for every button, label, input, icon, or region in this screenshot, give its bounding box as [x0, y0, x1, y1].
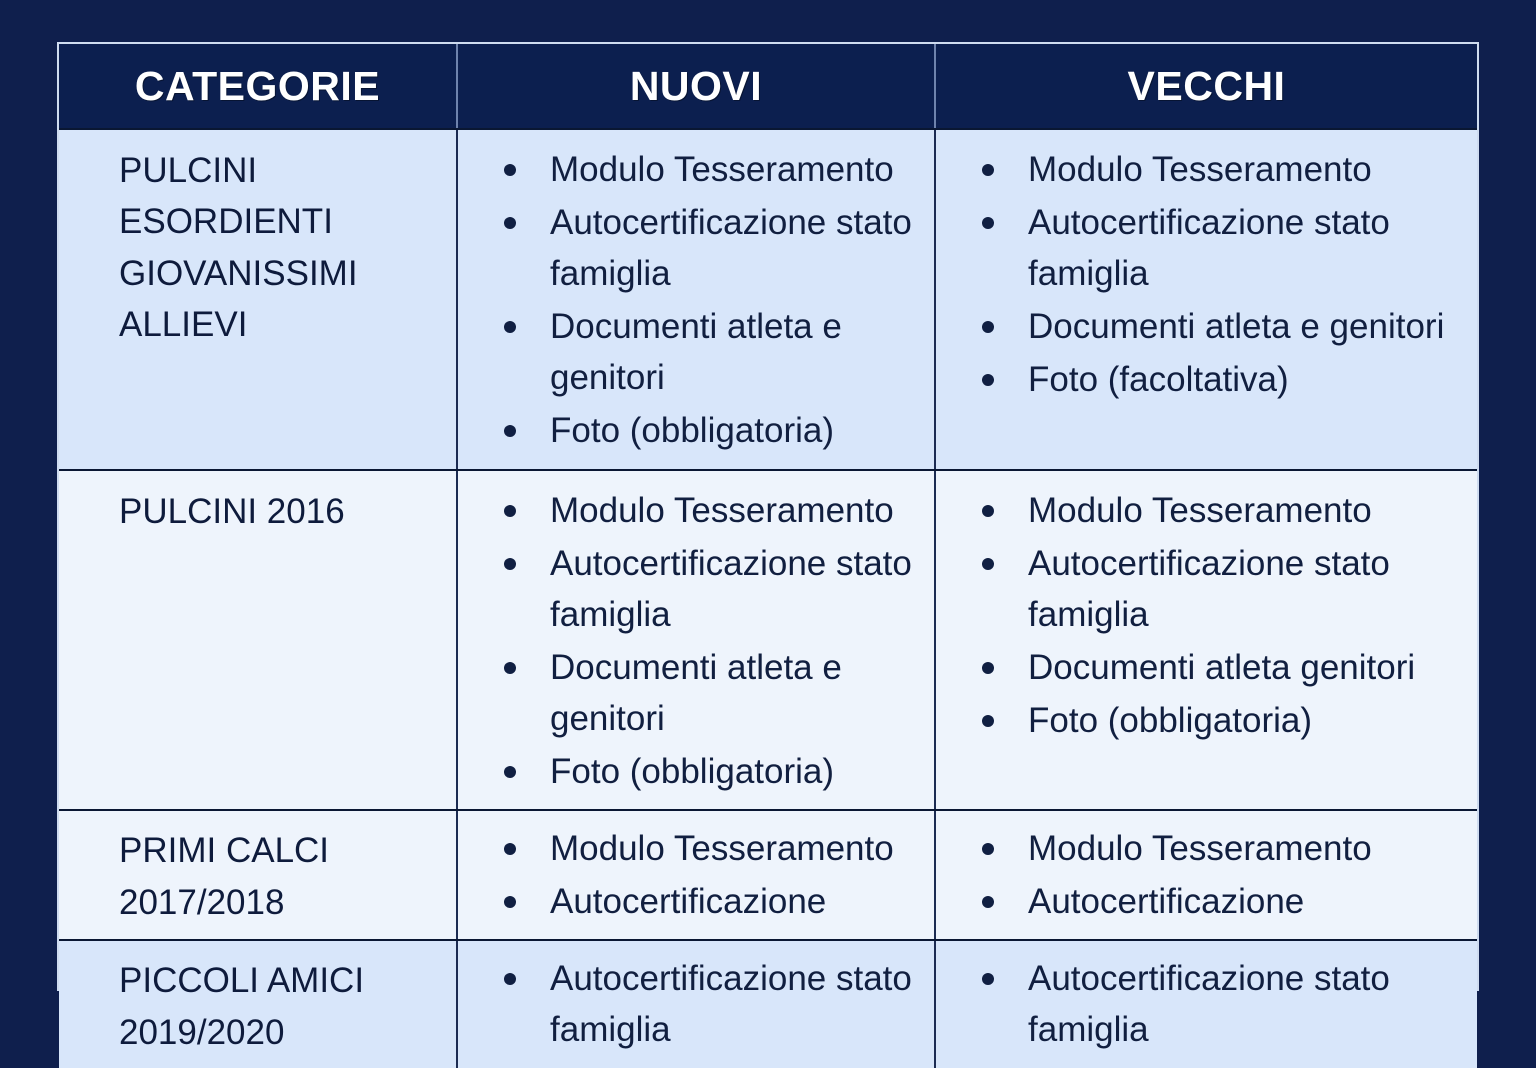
- cell-vecchi: Modulo Tesseramento Autocertificazione s…: [935, 470, 1477, 811]
- list-item-label: Autocertificazione stato famiglia: [550, 538, 928, 640]
- requirements-list-nuovi: Modulo Tesseramento Autocertificazione s…: [458, 130, 934, 469]
- list-item-label: Foto (obbligatoria): [550, 746, 928, 797]
- category-line: ESORDIENTI: [119, 196, 456, 247]
- bullet-icon: [982, 558, 994, 570]
- list-item: Foto (facoltativa): [970, 354, 1471, 405]
- table-body: PULCINI ESORDIENTI GIOVANISSIMI ALLIEVI …: [59, 129, 1477, 1068]
- column-header-vecchi: VECCHI: [935, 44, 1477, 129]
- cell-nuovi: Modulo Tesseramento Autocertificazione: [457, 810, 935, 940]
- category-block: PULCINI ESORDIENTI GIOVANISSIMI ALLIEVI: [59, 130, 456, 361]
- bullet-icon: [504, 896, 516, 908]
- bullet-icon: [982, 164, 994, 176]
- requirements-list-vecchi: Modulo Tesseramento Autocertificazione s…: [936, 471, 1477, 758]
- list-item: Autocertificazione stato famiglia: [492, 197, 928, 299]
- category-block: PRIMI CALCI 2017/2018: [59, 811, 456, 938]
- bullet-icon: [982, 321, 994, 333]
- list-item: Modulo Tesseramento: [970, 144, 1471, 195]
- cell-vecchi: Autocertificazione stato famiglia: [935, 940, 1477, 1068]
- page-root: CATEGORIE NUOVI VECCHI PULCINI ESORDIENT…: [0, 0, 1536, 1024]
- list-item-label: Modulo Tesseramento: [550, 144, 928, 195]
- list-item: Foto (obbligatoria): [970, 695, 1471, 746]
- list-item: Autocertificazione: [492, 876, 928, 927]
- category-line: PICCOLI AMICI: [119, 955, 456, 1006]
- category-line: ALLIEVI: [119, 299, 456, 350]
- list-item-label: Modulo Tesseramento: [1028, 823, 1471, 874]
- list-item: Foto (obbligatoria): [492, 746, 928, 797]
- category-line: PULCINI 2016: [119, 486, 456, 537]
- requirements-list-vecchi: Autocertificazione stato famiglia: [936, 941, 1477, 1067]
- bullet-icon: [982, 843, 994, 855]
- requirements-list-nuovi: Modulo Tesseramento Autocertificazione s…: [458, 471, 934, 810]
- category-block: PICCOLI AMICI 2019/2020: [59, 941, 456, 1068]
- bullet-icon: [982, 217, 994, 229]
- list-item-label: Autocertificazione: [1028, 876, 1471, 927]
- bullet-icon: [504, 843, 516, 855]
- list-item: Modulo Tesseramento: [492, 144, 928, 195]
- bullet-icon: [504, 425, 516, 437]
- column-header-nuovi: NUOVI: [457, 44, 935, 129]
- table-row: PRIMI CALCI 2017/2018 Modulo Tesserament…: [59, 810, 1477, 940]
- bullet-icon: [504, 766, 516, 778]
- category-line: 2019/2020: [119, 1007, 456, 1058]
- list-item: Modulo Tesseramento: [970, 485, 1471, 536]
- bullet-icon: [504, 973, 516, 985]
- list-item-label: Modulo Tesseramento: [1028, 485, 1471, 536]
- bullet-icon: [504, 217, 516, 229]
- cell-vecchi: Modulo Tesseramento Autocertificazione s…: [935, 129, 1477, 470]
- list-item: Documenti atleta e genitori: [492, 642, 928, 744]
- list-item: Modulo Tesseramento: [492, 823, 928, 874]
- cell-category: PRIMI CALCI 2017/2018: [59, 810, 457, 940]
- list-item-label: Modulo Tesseramento: [550, 823, 928, 874]
- list-item-label: Autocertificazione: [550, 876, 928, 927]
- cell-category: PICCOLI AMICI 2019/2020: [59, 940, 457, 1068]
- list-item-label: Foto (obbligatoria): [1028, 695, 1471, 746]
- bullet-icon: [982, 662, 994, 674]
- category-line: 2017/2018: [119, 877, 456, 928]
- list-item: Autocertificazione stato famiglia: [970, 953, 1471, 1055]
- list-item: Modulo Tesseramento: [970, 823, 1471, 874]
- list-item-label: Foto (facoltativa): [1028, 354, 1471, 405]
- list-item: Documenti atleta e genitori: [492, 301, 928, 403]
- requirements-table: CATEGORIE NUOVI VECCHI PULCINI ESORDIENT…: [59, 44, 1477, 1068]
- list-item: Autocertificazione stato famiglia: [492, 953, 928, 1055]
- table-header: CATEGORIE NUOVI VECCHI: [59, 44, 1477, 129]
- cell-nuovi: Autocertificazione stato famiglia: [457, 940, 935, 1068]
- list-item: Foto (obbligatoria): [492, 405, 928, 456]
- table-row: PICCOLI AMICI 2019/2020 Autocertificazio…: [59, 940, 1477, 1068]
- bullet-icon: [982, 505, 994, 517]
- bullet-icon: [504, 662, 516, 674]
- list-item-label: Documenti atleta e genitori: [550, 301, 928, 403]
- category-block: PULCINI 2016: [59, 471, 456, 547]
- list-item-label: Foto (obbligatoria): [550, 405, 928, 456]
- bullet-icon: [982, 896, 994, 908]
- bullet-icon: [982, 973, 994, 985]
- table-row: PULCINI ESORDIENTI GIOVANISSIMI ALLIEVI …: [59, 129, 1477, 470]
- requirements-table-container: CATEGORIE NUOVI VECCHI PULCINI ESORDIENT…: [57, 42, 1479, 991]
- list-item: Autocertificazione: [970, 876, 1471, 927]
- requirements-list-vecchi: Modulo Tesseramento Autocertificazione s…: [936, 130, 1477, 417]
- category-line: PULCINI: [119, 145, 456, 196]
- cell-vecchi: Modulo Tesseramento Autocertificazione: [935, 810, 1477, 940]
- header-row: CATEGORIE NUOVI VECCHI: [59, 44, 1477, 129]
- bullet-icon: [504, 558, 516, 570]
- bullet-icon: [982, 715, 994, 727]
- list-item-label: Autocertificazione stato famiglia: [1028, 953, 1471, 1055]
- category-line: PRIMI CALCI: [119, 825, 456, 876]
- cell-nuovi: Modulo Tesseramento Autocertificazione s…: [457, 129, 935, 470]
- list-item-label: Documenti atleta e genitori: [1028, 301, 1471, 352]
- list-item: Autocertificazione stato famiglia: [970, 538, 1471, 640]
- list-item: Modulo Tesseramento: [492, 485, 928, 536]
- bullet-icon: [504, 321, 516, 333]
- cell-nuovi: Modulo Tesseramento Autocertificazione s…: [457, 470, 935, 811]
- list-item-label: Autocertificazione stato famiglia: [550, 953, 928, 1055]
- bullet-icon: [504, 505, 516, 517]
- list-item-label: Autocertificazione stato famiglia: [1028, 538, 1471, 640]
- list-item: Documenti atleta e genitori: [970, 301, 1471, 352]
- list-item-label: Modulo Tesseramento: [1028, 144, 1471, 195]
- list-item: Documenti atleta genitori: [970, 642, 1471, 693]
- list-item-label: Documenti atleta genitori: [1028, 642, 1471, 693]
- cell-category: PULCINI ESORDIENTI GIOVANISSIMI ALLIEVI: [59, 129, 457, 470]
- table-row: PULCINI 2016 Modulo Tesseramento Autocer…: [59, 470, 1477, 811]
- cell-category: PULCINI 2016: [59, 470, 457, 811]
- requirements-list-nuovi: Modulo Tesseramento Autocertificazione: [458, 811, 934, 939]
- column-header-categorie: CATEGORIE: [59, 44, 457, 129]
- list-item-label: Documenti atleta e genitori: [550, 642, 928, 744]
- requirements-list-vecchi: Modulo Tesseramento Autocertificazione: [936, 811, 1477, 939]
- bullet-icon: [504, 164, 516, 176]
- list-item-label: Autocertificazione stato famiglia: [1028, 197, 1471, 299]
- list-item: Autocertificazione stato famiglia: [970, 197, 1471, 299]
- list-item-label: Autocertificazione stato famiglia: [550, 197, 928, 299]
- list-item-label: Modulo Tesseramento: [550, 485, 928, 536]
- bullet-icon: [982, 374, 994, 386]
- requirements-list-nuovi: Autocertificazione stato famiglia: [458, 941, 934, 1067]
- category-line: GIOVANISSIMI: [119, 248, 456, 299]
- list-item: Autocertificazione stato famiglia: [492, 538, 928, 640]
